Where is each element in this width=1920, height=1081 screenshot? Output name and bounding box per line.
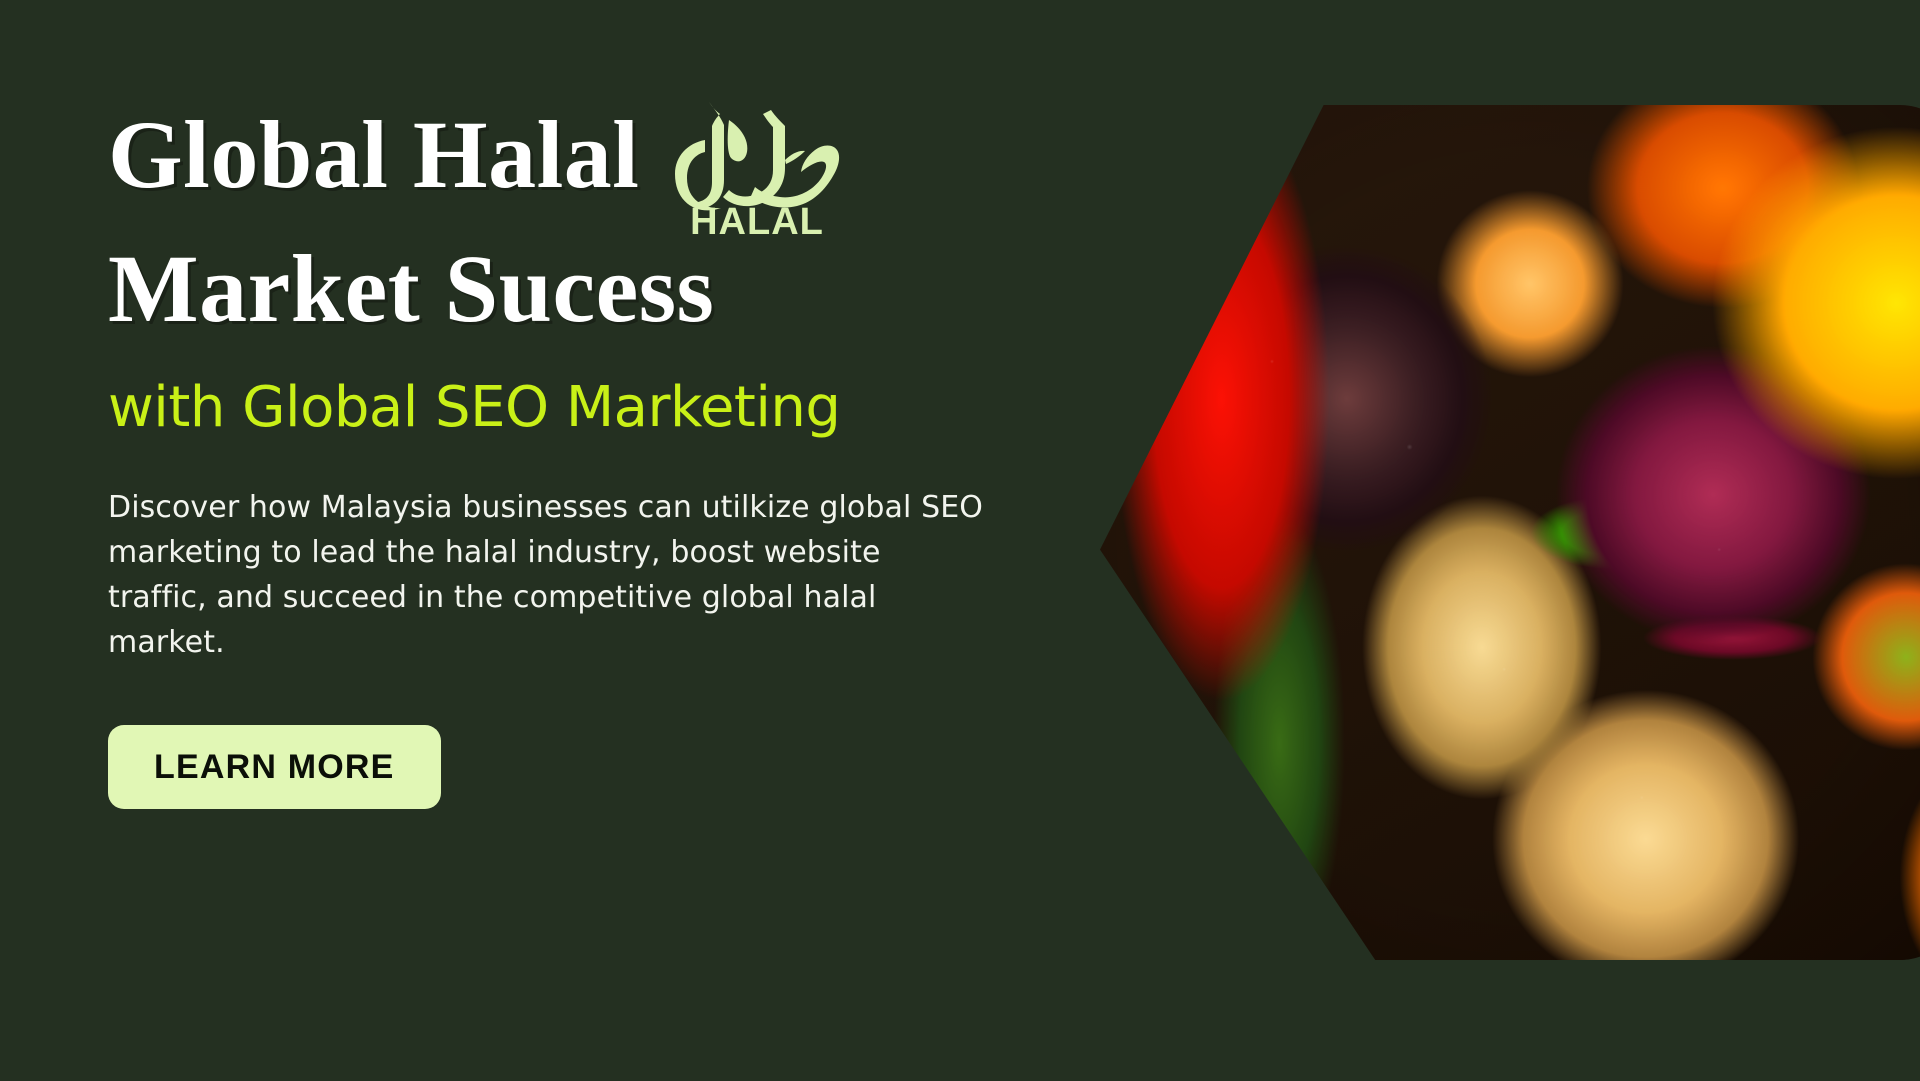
hero-description: Discover how Malaysia businesses can uti… (108, 485, 988, 665)
page-subtitle: with Global SEO Marketing (108, 375, 1128, 441)
headline-row-1: Global Halal (108, 96, 1128, 240)
headline-block: Global Halal (108, 96, 1128, 347)
page-title-line-1: Global Halal (108, 96, 639, 213)
hero-photo (1100, 105, 1920, 960)
halal-certification-icon: HALAL (667, 90, 847, 240)
hero-content: Global Halal (108, 96, 1128, 809)
vegetable-photo-image (1100, 105, 1920, 960)
photo-clip (1100, 105, 1920, 960)
page-title-line-2: Market Sucess (108, 230, 1128, 347)
halal-logo-wordmark: HALAL (691, 201, 825, 240)
hero-banner: Global Halal (0, 0, 1920, 1081)
cta-container: LEARN MORE (108, 725, 1128, 809)
learn-more-button[interactable]: LEARN MORE (108, 725, 441, 809)
